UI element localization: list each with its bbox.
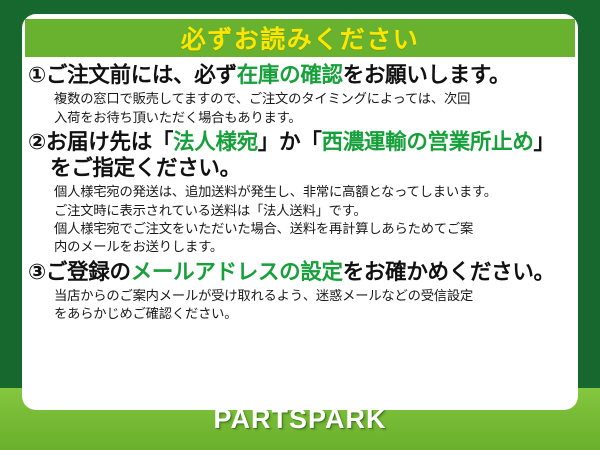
notice-item-1: ①ご注文前には、必ず在庫の確認をお願いします。 複数の窓口で販売してますので、ご…: [28, 63, 572, 128]
notice-item-3-body: 当店からのご案内メールが受け取れるよう、迷惑メールなどの受信設定 をあらかじめご…: [28, 286, 572, 325]
body-line: 当店からのご案内メールが受け取れるよう、迷惑メールなどの受信設定: [54, 288, 572, 306]
body-line: 入荷をお待ち頂いただく場合もあります。: [54, 110, 572, 128]
heading-highlight: 在庫の確認: [237, 63, 343, 88]
notice-panel: 必ずお読みください ①ご注文前には、必ず在庫の確認をお願いします。 複数の窓口で…: [22, 14, 578, 410]
body-line: 内のメールをお送りします。: [54, 239, 572, 257]
page-title: 必ずお読みください: [181, 20, 420, 56]
notice-item-3-heading: ③ご登録のメールアドレスの設定をお確かめください。: [28, 260, 572, 286]
body-line: ご注文時に表示されている送料は「法人送料」です。: [54, 203, 572, 221]
heading-segment: をお願いします。: [343, 63, 510, 88]
heading-segment: 」: [534, 130, 555, 155]
heading-segment: ③ご登録の: [28, 260, 131, 285]
title-banner: 必ずお読みください: [25, 19, 575, 57]
heading-segment: ②お届け先は「: [28, 130, 173, 155]
body-line: 個人様宅宛の発送は、追加送料が発生し、非常に高額となってしまいます。: [54, 184, 572, 202]
notice-item-1-body: 複数の窓口で販売してますので、ご注文のタイミングによっては、次回 入荷をお待ち頂…: [28, 89, 572, 128]
notice-item-2-body: 個人様宅宛の発送は、追加送料が発生し、非常に高額となってしまいます。 ご注文時に…: [28, 182, 572, 257]
notice-frame: PARTSPARK 必ずお読みください ①ご注文前には、必ず在庫の確認をお願いし…: [0, 0, 600, 450]
notice-item-2-heading: ②お届け先は「法人様宛」か「西濃運輸の営業所止め」 をご指定ください。: [28, 130, 572, 182]
heading-highlight: 西濃運輸の営業所止め: [322, 130, 534, 155]
heading-segment: をお確かめください。: [343, 260, 555, 285]
heading-line-2: をご指定ください。: [28, 156, 572, 182]
heading-highlight: メールアドレスの設定: [131, 260, 343, 285]
heading-segment: 」か「: [258, 130, 322, 155]
heading-highlight: 法人様宛: [173, 130, 258, 155]
notice-item-1-heading: ①ご注文前には、必ず在庫の確認をお願いします。: [28, 63, 572, 89]
heading-segment: ①ご注文前には、必ず: [28, 63, 237, 88]
body-line: 複数の窓口で販売してますので、ご注文のタイミングによっては、次回: [54, 91, 572, 109]
notice-item-3: ③ご登録のメールアドレスの設定をお確かめください。 当店からのご案内メールが受け…: [28, 260, 572, 325]
body-line: 個人様宅宛でご注文をいただいた場合、送料を再計算しあらためてご案: [54, 221, 572, 239]
body-line: をあらかじめご確認ください。: [54, 306, 572, 324]
notice-items: ①ご注文前には、必ず在庫の確認をお願いします。 複数の窓口で販売してますので、ご…: [22, 57, 578, 325]
notice-item-2: ②お届け先は「法人様宛」か「西濃運輸の営業所止め」 をご指定ください。 個人様宅…: [28, 130, 572, 258]
